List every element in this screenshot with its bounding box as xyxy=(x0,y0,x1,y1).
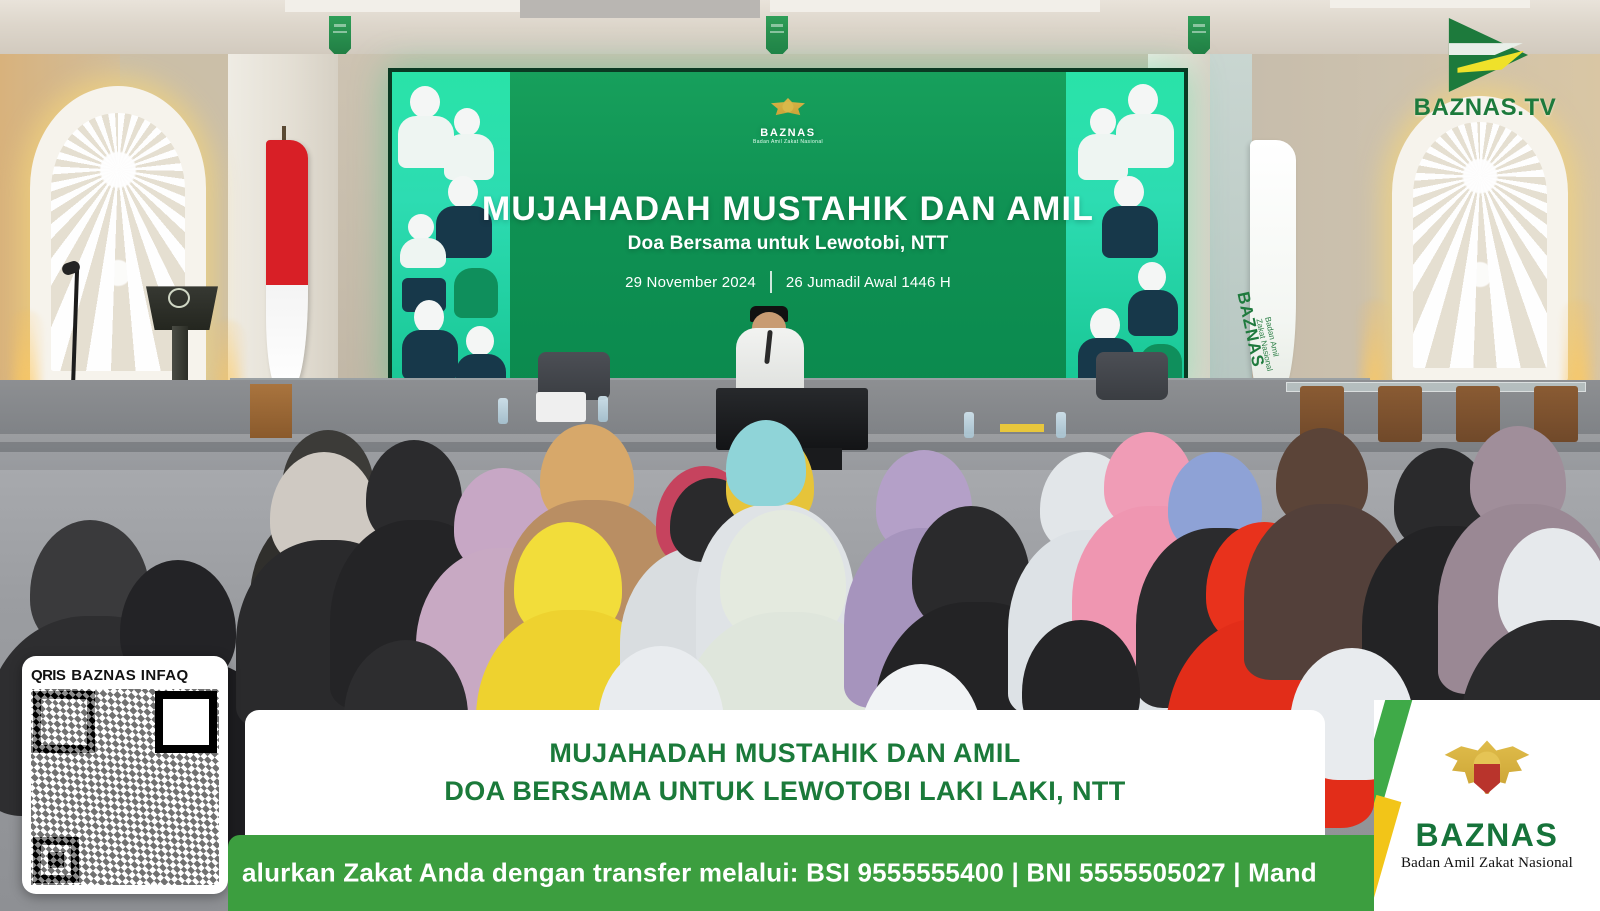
date-divider xyxy=(770,271,772,293)
qris-overlay-card[interactable]: QRIS BAZNAS INFAQ xyxy=(22,656,228,894)
org-logo-card: BAZNAS Badan Amil Zakat Nasional xyxy=(1374,700,1600,911)
ticker-text: alurkan Zakat Anda dengan transfer melal… xyxy=(242,858,1317,889)
led-date-hijri: 26 Jumadil Awal 1446 H xyxy=(786,274,951,291)
baznas-logo-on-screen: BAZNAS Badan Amil Zakat Nasional xyxy=(753,98,823,145)
channel-name: BAZNAS.TV xyxy=(1396,94,1574,122)
stage-sofa xyxy=(1096,352,1168,400)
wooden-chair xyxy=(1378,386,1422,442)
org-tagline: Badan Amil Zakat Nasional xyxy=(1401,855,1573,872)
stage-marker-tape xyxy=(1000,424,1044,432)
podium-emblem-icon xyxy=(168,288,190,308)
baznas-banner-flag-icon: BAZNAS Badan Amil Zakat Nasional xyxy=(1250,140,1296,398)
led-org-name: BAZNAS xyxy=(753,127,823,139)
video-stream-frame: BAZNAS Badan Amil Zakat Nasional MUJAHAD… xyxy=(0,0,1600,911)
garuda-emblem-icon xyxy=(771,98,805,124)
wooden-chair xyxy=(250,384,292,438)
org-name: BAZNAS xyxy=(1416,817,1559,854)
qris-brand: QRIS xyxy=(31,667,65,684)
channel-watermark: BAZNAS.TV xyxy=(1396,18,1574,122)
qris-label: BAZNAS INFAQ xyxy=(71,667,188,684)
accent-slash-yellow xyxy=(1374,795,1401,911)
led-org-tagline: Badan Amil Zakat Nasional xyxy=(753,139,823,145)
tissue-box xyxy=(536,392,586,422)
play-triangle-icon xyxy=(1442,18,1528,92)
ceiling-light-panel xyxy=(1330,0,1530,8)
led-date-row: 29 November 2024 26 Jumadil Awal 1446 H xyxy=(392,271,1184,293)
indonesian-flag-icon xyxy=(266,140,308,390)
water-bottle xyxy=(498,398,508,424)
ceiling-light-panel xyxy=(770,0,1100,12)
water-bottle xyxy=(598,396,608,422)
qr-code-icon[interactable] xyxy=(31,689,219,885)
garuda-shield-icon xyxy=(1474,764,1500,794)
qris-header: QRIS BAZNAS INFAQ xyxy=(31,664,219,686)
lower-third-line2: DOA BERSAMA UNTUK LEWOTOBI LAKI LAKI, NT… xyxy=(444,776,1125,807)
water-bottle xyxy=(1056,412,1066,438)
led-event-title: MUJAHADAH MUSTAHIK DAN AMIL xyxy=(392,190,1184,229)
lower-third-line1: MUJAHADAH MUSTAHIK DAN AMIL xyxy=(549,738,1020,769)
ornamental-arch-panel-icon xyxy=(1392,96,1568,382)
led-event-subtitle: Doa Bersama untuk Lewotobi, NTT xyxy=(392,233,1184,255)
led-date-gregorian: 29 November 2024 xyxy=(625,274,756,291)
ceiling-beam xyxy=(520,0,760,18)
lower-third-card: MUJAHADAH MUSTAHIK DAN AMIL DOA BERSAMA … xyxy=(245,710,1325,835)
water-bottle xyxy=(964,412,974,438)
led-title-block: MUJAHADAH MUSTAHIK DAN AMIL Doa Bersama … xyxy=(392,190,1184,293)
